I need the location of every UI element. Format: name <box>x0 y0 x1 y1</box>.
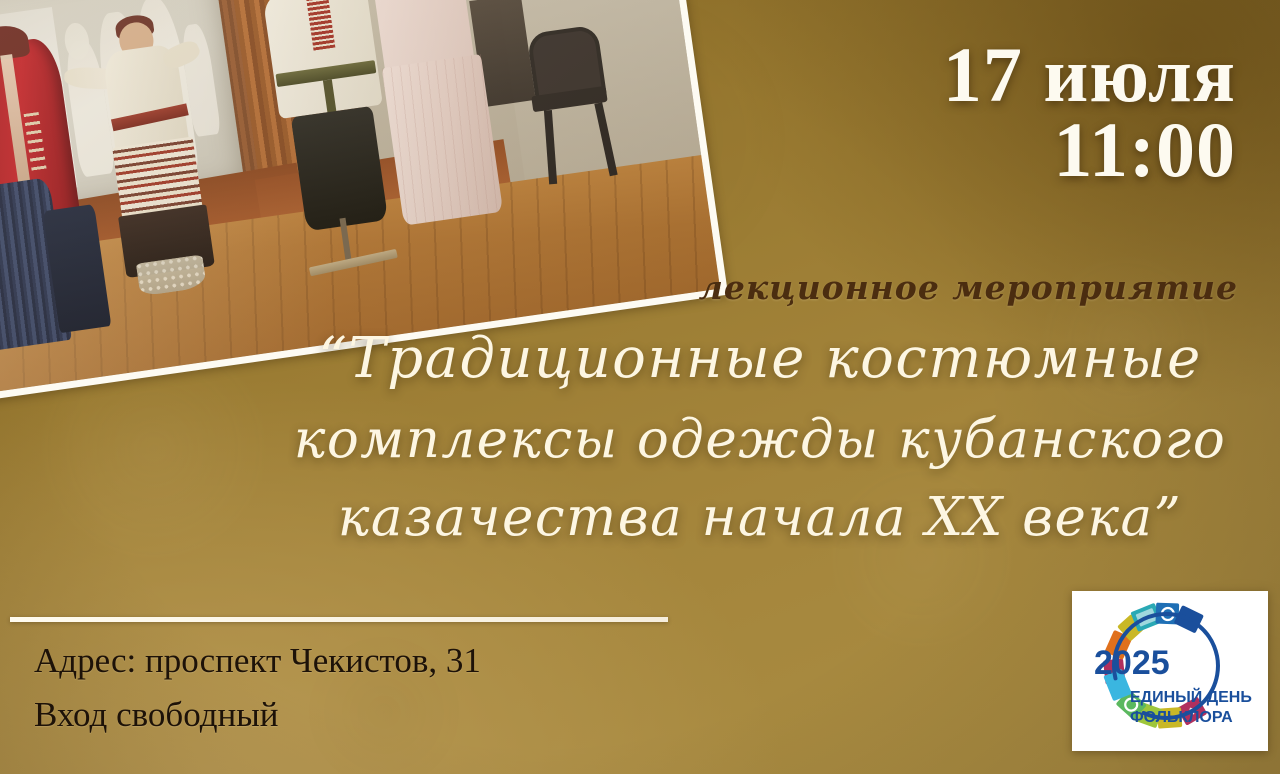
event-details: Адрес: проспект Чекистов, 31 Вход свобод… <box>34 634 481 743</box>
event-date-time: 17 июля 11:00 <box>806 38 1236 188</box>
logo-year-text: 2025 <box>1094 644 1170 682</box>
logo-line-1: ЕДИНЫЙ ДЕНЬ <box>1130 687 1252 706</box>
event-entry-info: Вход свободный <box>34 688 481 742</box>
event-title-line-2: комплексы одежды кубанского <box>270 401 1250 479</box>
logo-line-2: ФОЛЬКЛОРА <box>1130 709 1233 726</box>
logo-year: 2025 <box>1094 644 1170 682</box>
section-divider <box>10 617 668 622</box>
event-date: 17 июля <box>806 38 1236 113</box>
event-title-line-3: казачества начала XX века” <box>270 479 1250 557</box>
event-kind: лекционное мероприятие <box>699 268 1238 307</box>
event-address: Адрес: проспект Чекистов, 31 <box>34 634 481 688</box>
event-time: 11:00 <box>806 113 1236 188</box>
event-title: “Традиционные костюмные комплексы одежды… <box>270 318 1250 558</box>
folklore-day-logo-graphic: 2025 ЕДИНЫЙ ДЕНЬ ФОЛЬКЛОРА <box>1080 598 1260 744</box>
poster-root: 17 июля 11:00 лекционное мероприятие “Тр… <box>0 0 1280 774</box>
folklore-day-logo: 2025 ЕДИНЫЙ ДЕНЬ ФОЛЬКЛОРА <box>1072 591 1268 751</box>
event-title-line-1: “Традиционные костюмные <box>270 318 1250 401</box>
